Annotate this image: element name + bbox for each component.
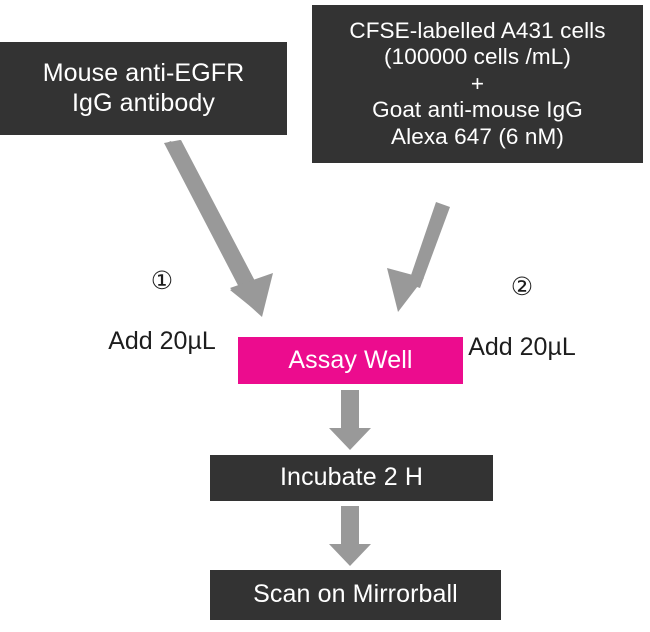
node-scan-on-mirrorball: Scan on Mirrorball [210, 570, 501, 620]
step-1-number: ① [72, 268, 252, 294]
step-1-label: Add 20µL [108, 327, 216, 355]
arrow-incubate-to-scan [325, 506, 375, 568]
node-cfse-labelled-a431-cells: CFSE-labelled A431 cells (100000 cells /… [312, 5, 643, 163]
node-mouse-anti-egfr-antibody: Mouse anti-EGFR IgG antibody [0, 42, 287, 135]
step-2-label: Add 20µL [468, 333, 576, 361]
node-assay-well: Assay Well [238, 337, 463, 384]
step-2-number: ② [432, 274, 612, 300]
arrow-assay-well-to-incubate [325, 390, 375, 452]
node-incubate-2h: Incubate 2 H [210, 455, 493, 501]
step-2-annotation: ② Add 20µL [432, 243, 612, 363]
flowchart-canvas: Mouse anti-EGFR IgG antibody CFSE-labell… [0, 0, 650, 632]
step-1-annotation: ① Add 20µL [72, 237, 252, 357]
